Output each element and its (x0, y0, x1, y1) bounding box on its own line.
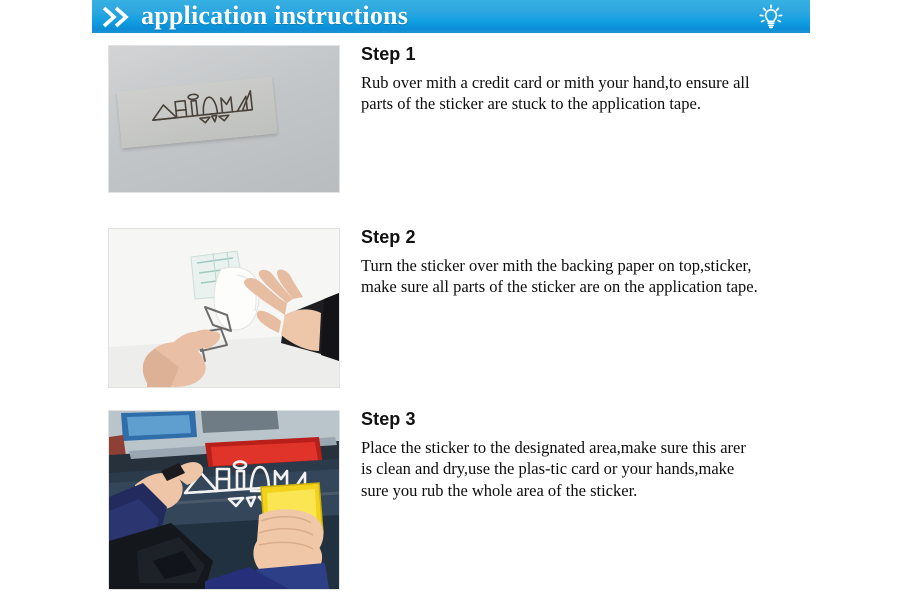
photo-peeling-backing-paper (108, 228, 340, 388)
lightbulb-idea-icon (756, 2, 786, 32)
step-title: Step 1 (361, 45, 801, 63)
step-description: Turn the sticker over mith the backing p… (361, 255, 801, 298)
car-window-application-scene (109, 411, 339, 589)
step-description: Place the sticker to the designated area… (361, 437, 801, 501)
double-chevron-right-icon (102, 6, 132, 28)
step-description: Rub over mith a credit card or mith your… (361, 72, 801, 115)
page-title: application instructions (141, 3, 756, 31)
step-title: Step 3 (361, 410, 801, 428)
photo-applying-sticker-to-car-window (108, 410, 340, 590)
step-text-column: Step 1 Rub over mith a credit card or mi… (361, 45, 801, 115)
step-title: Step 2 (361, 228, 801, 246)
page-header-banner: application instructions (92, 0, 810, 33)
step-text-column: Step 2 Turn the sticker over mith the ba… (361, 228, 801, 298)
step-text-column: Step 3 Place the sticker to the designat… (361, 410, 801, 501)
peeling-sticker-scene (109, 229, 339, 387)
photo-sticker-on-transfer-tape (108, 45, 340, 193)
